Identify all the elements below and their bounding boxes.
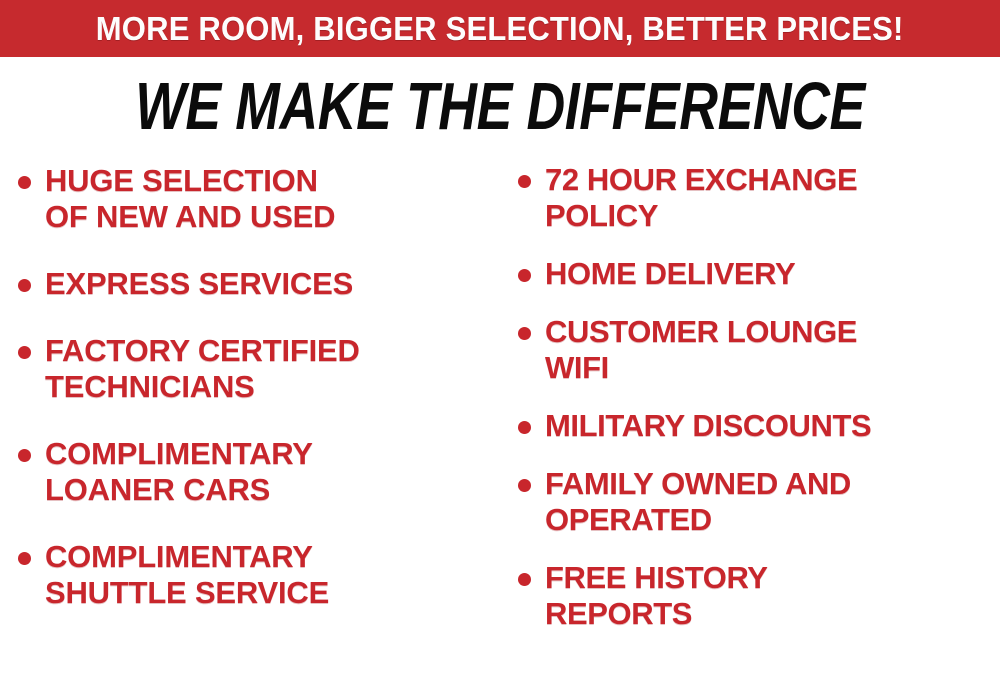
list-item-line: HOME DELIVERY [545,256,795,291]
bullet-dot-icon [18,346,31,359]
list-item: FAMILY OWNED ANDOPERATED [518,466,998,538]
list-item: EXPRESS SERVICES [18,266,494,302]
bullet-dot-icon [18,552,31,565]
benefits-column-right: 72 HOUR EXCHANGEPOLICYHOME DELIVERYCUSTO… [500,155,1000,632]
list-item-line: LOANER CARS [45,472,270,507]
list-item-line: FREE HISTORY [545,560,768,595]
list-item-line: CUSTOMER LOUNGE [545,314,857,349]
bullet-dot-icon [18,176,31,189]
list-item: MILITARY DISCOUNTS [518,408,998,444]
list-item-line: HUGE SELECTION [45,163,318,198]
list-item: 72 HOUR EXCHANGEPOLICY [518,162,998,234]
list-item: FREE HISTORYREPORTS [518,560,998,632]
list-item: COMPLIMENTARYSHUTTLE SERVICE [18,539,494,611]
list-item-line: EXPRESS SERVICES [45,266,353,301]
bullet-dot-icon [518,269,531,282]
list-item-line: MILITARY DISCOUNTS [545,408,871,443]
benefits-column-left: HUGE SELECTIONOF NEW AND USEDEXPRESS SER… [0,155,500,611]
top-banner: MORE ROOM, BIGGER SELECTION, BETTER PRIC… [0,0,1000,57]
benefits-columns: HUGE SELECTIONOF NEW AND USEDEXPRESS SER… [0,155,1000,694]
list-item-line: WIFI [545,350,609,385]
list-item-line: OPERATED [545,502,712,537]
bullet-dot-icon [518,421,531,434]
page-title: WE MAKE THE DIFFERENCE [135,73,865,140]
list-item-label: MILITARY DISCOUNTS [545,408,871,444]
promotional-poster: MORE ROOM, BIGGER SELECTION, BETTER PRIC… [0,0,1000,694]
headline-container: WE MAKE THE DIFFERENCE [0,62,1000,150]
banner-headline-text: MORE ROOM, BIGGER SELECTION, BETTER PRIC… [96,12,904,45]
list-item: COMPLIMENTARYLOANER CARS [18,436,494,508]
list-item-line: SHUTTLE SERVICE [45,575,329,610]
bullet-dot-icon [18,279,31,292]
bullet-dot-icon [518,327,531,340]
list-item-label: FACTORY CERTIFIEDTECHNICIANS [45,333,360,405]
list-item-line: REPORTS [545,596,692,631]
list-item-line: OF NEW AND USED [45,199,335,234]
list-item: HOME DELIVERY [518,256,998,292]
list-item-label: HOME DELIVERY [545,256,795,292]
list-item-label: CUSTOMER LOUNGEWIFI [545,314,857,386]
list-item-label: COMPLIMENTARYSHUTTLE SERVICE [45,539,329,611]
list-item-label: 72 HOUR EXCHANGEPOLICY [545,162,857,234]
list-item-line: FACTORY CERTIFIED [45,333,360,368]
bullet-dot-icon [18,449,31,462]
list-item-label: FREE HISTORYREPORTS [545,560,768,632]
list-item-label: EXPRESS SERVICES [45,266,353,302]
list-item-label: COMPLIMENTARYLOANER CARS [45,436,313,508]
bullet-dot-icon [518,573,531,586]
list-item-line: 72 HOUR EXCHANGE [545,162,857,197]
bullet-dot-icon [518,175,531,188]
list-item-line: COMPLIMENTARY [45,436,313,471]
list-item: CUSTOMER LOUNGEWIFI [518,314,998,386]
list-item: FACTORY CERTIFIEDTECHNICIANS [18,333,494,405]
bullet-dot-icon [518,479,531,492]
list-item: HUGE SELECTIONOF NEW AND USED [18,163,494,235]
list-item-line: FAMILY OWNED AND [545,466,851,501]
list-item-line: COMPLIMENTARY [45,539,313,574]
list-item-label: FAMILY OWNED ANDOPERATED [545,466,851,538]
list-item-line: TECHNICIANS [45,369,255,404]
list-item-label: HUGE SELECTIONOF NEW AND USED [45,163,335,235]
list-item-line: POLICY [545,198,658,233]
